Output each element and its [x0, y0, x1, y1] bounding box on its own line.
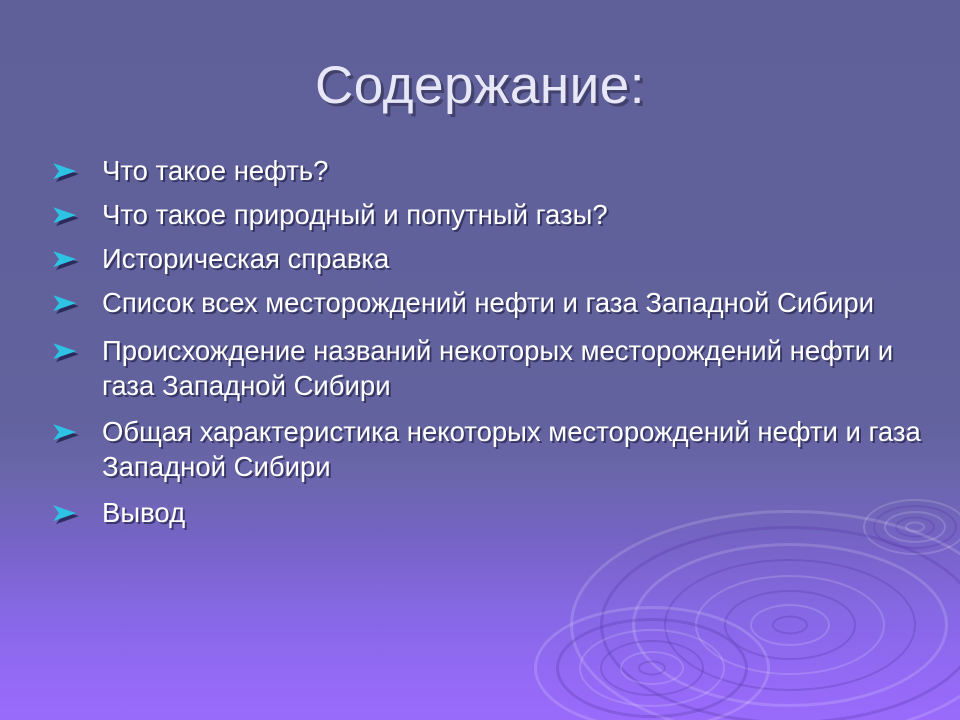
- ripple-ring: [600, 526, 960, 720]
- ripple-ring: [600, 640, 704, 696]
- toc-item-label: Общая характеристика некоторых месторожд…: [102, 413, 926, 484]
- presentation-slide: Содержание: ➤ Что такое нефть? ➤ Что так…: [0, 0, 960, 720]
- ripple-ring: [620, 651, 684, 685]
- ripple-ring: [695, 575, 885, 675]
- table-of-contents-list: ➤ Что такое нефть? ➤ Что такое природный…: [36, 152, 926, 540]
- ripple-ring: [632, 543, 948, 707]
- toc-item-label: Что такое нефть?: [102, 152, 926, 188]
- toc-item[interactable]: ➤ Что такое нефть?: [36, 152, 926, 190]
- ripple-ring: [724, 590, 856, 660]
- arrow-bullet-icon: ➤: [36, 196, 125, 234]
- ripple-ring: [664, 559, 916, 691]
- ripple-ring: [556, 618, 748, 718]
- toc-item[interactable]: ➤ Историческая справка: [36, 240, 926, 278]
- arrow-bullet-icon: ➤: [36, 413, 125, 451]
- arrow-bullet-icon: ➤: [36, 284, 125, 322]
- slide-title: Содержание:: [0, 58, 960, 114]
- toc-item-label: Список всех месторождений нефти и газа З…: [102, 284, 926, 320]
- ripple-ring: [534, 606, 770, 720]
- toc-item-label: Вывод: [102, 494, 926, 530]
- ripple-ring: [579, 629, 725, 707]
- toc-item[interactable]: ➤ Список всех месторождений нефти и газа…: [36, 284, 926, 322]
- ripple-ring: [750, 604, 830, 646]
- ripple-ring: [638, 661, 666, 676]
- toc-item-label: Что такое природный и попутный газы?: [102, 196, 926, 232]
- arrow-bullet-icon: ➤: [36, 332, 125, 370]
- ripple-ring: [772, 616, 808, 635]
- arrow-bullet-icon: ➤: [36, 152, 125, 190]
- arrow-bullet-icon: ➤: [36, 240, 125, 278]
- toc-item[interactable]: ➤ Что такое природный и попутный газы?: [36, 196, 926, 234]
- toc-item-label: Историческая справка: [102, 240, 926, 276]
- toc-item[interactable]: ➤ Общая характеристика некоторых месторо…: [36, 413, 926, 484]
- ripple-ring: [570, 510, 960, 720]
- toc-item[interactable]: ➤ Вывод: [36, 494, 926, 532]
- arrow-bullet-icon: ➤: [36, 494, 125, 532]
- toc-item-label: Происхождение названий некоторых месторо…: [102, 332, 926, 403]
- toc-item[interactable]: ➤ Происхождение названий некоторых место…: [36, 332, 926, 403]
